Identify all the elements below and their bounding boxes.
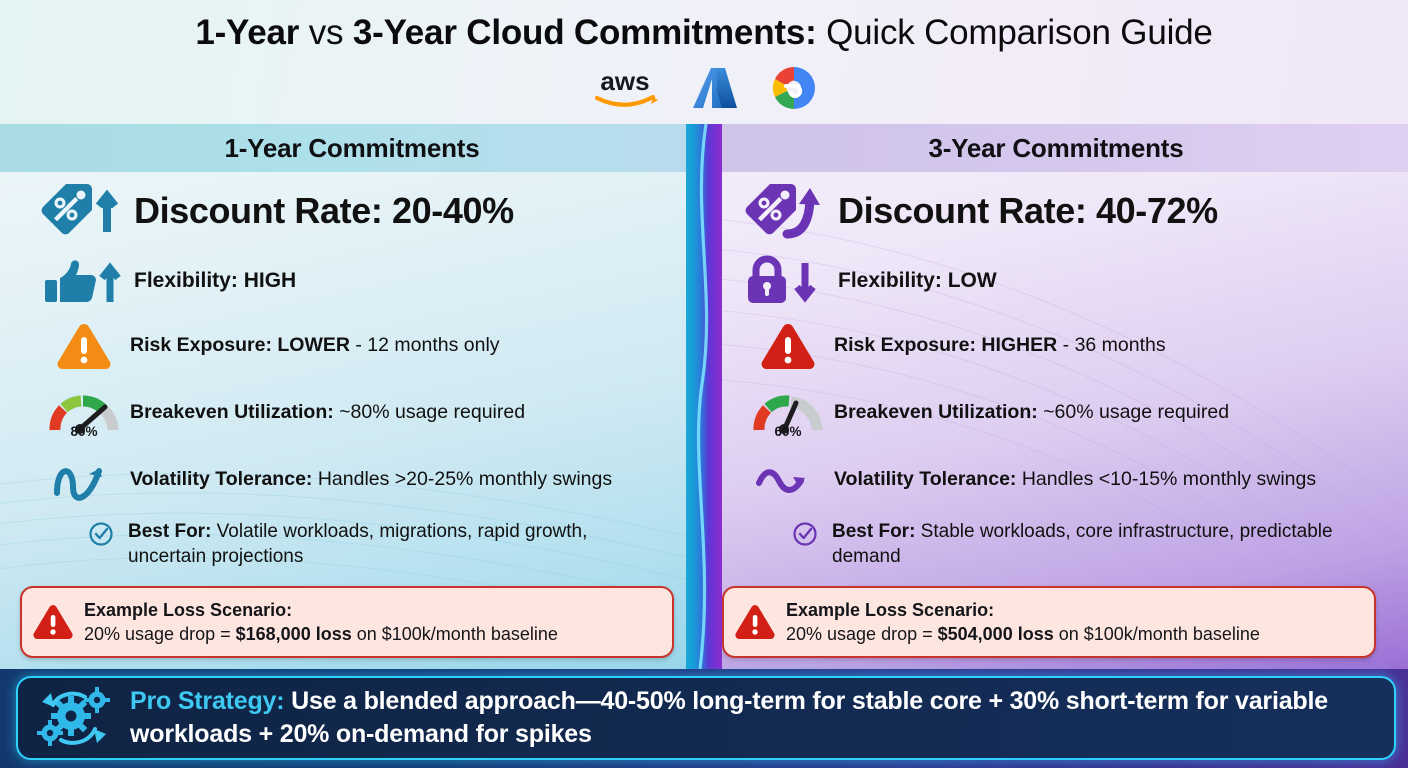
lock-down-icon — [740, 255, 832, 307]
title-part-3: Quick Comparison Guide — [817, 13, 1213, 52]
title-bar: 1-Year vs 3-Year Cloud Commitments: Quic… — [0, 0, 1408, 124]
row-risk-exposure: Risk Exposure: HIGHER - 36 months — [704, 312, 1408, 379]
wave-flat-arrow-icon — [748, 457, 828, 503]
infographic-canvas: 1-Year vs 3-Year Cloud Commitments: Quic… — [0, 0, 1408, 768]
breakeven-label: Breakeven Utilization: — [834, 401, 1038, 423]
best-for-label: Best For: — [832, 521, 915, 542]
warning-triangle-red-icon — [22, 603, 84, 641]
svg-text:aws: aws — [600, 66, 649, 96]
flexibility-value: HIGH — [238, 269, 296, 292]
title-vs: vs — [299, 13, 353, 52]
row-flexibility: Flexibility: LOW — [704, 250, 1408, 312]
warning-triangle-red-icon — [724, 603, 786, 641]
aws-logo: aws — [589, 66, 661, 110]
breakeven-value: ~60% usage required — [1038, 401, 1229, 423]
column-one-year: 1-Year Commitments — [0, 124, 704, 669]
breakeven-label: Breakeven Utilization: — [130, 401, 334, 423]
breakeven-text: Breakeven Utilization: ~80% usage requir… — [130, 401, 525, 424]
loss-scenario-title: Example Loss Scenario: — [84, 599, 558, 622]
row-best-for: Best For: Stable workloads, core infrast… — [704, 513, 1408, 577]
loss-scenario-detail: 20% usage drop = $168,000 loss on $100k/… — [84, 622, 558, 646]
check-circle-icon — [78, 519, 124, 547]
gauge-icon: 80% — [44, 390, 124, 436]
row-best-for: Best For: Volatile workloads, migrations… — [0, 513, 704, 577]
best-for-text: Best For: Volatile workloads, migrations… — [128, 519, 648, 569]
thumbs-up-icon — [36, 256, 128, 306]
breakeven-text: Breakeven Utilization: ~60% usage requir… — [834, 401, 1229, 424]
row-breakeven-utilization: 60% Breakeven Utilization: ~60% usage re… — [704, 379, 1408, 446]
risk-exposure-label: Risk Exposure: HIGHER — [834, 334, 1057, 356]
warning-triangle-orange-icon — [44, 320, 124, 372]
pro-strategy-bar: Pro Strategy: Use a blended approach—40-… — [0, 669, 1408, 768]
discount-rate-text: Discount Rate: 20-40% — [134, 190, 514, 232]
risk-exposure-text: Risk Exposure: HIGHER - 36 months — [834, 334, 1166, 357]
volatility-label: Volatility Tolerance: — [834, 468, 1016, 490]
volatility-text: Volatility Tolerance: Handles <10-15% mo… — [834, 468, 1316, 491]
loss-post: on $100k/month baseline — [1054, 624, 1260, 644]
title-part-1: 1-Year — [195, 13, 299, 52]
cloud-provider-logos: aws — [0, 62, 1408, 114]
row-discount-rate: Discount Rate: 20-40% — [0, 172, 704, 250]
volatility-text: Volatility Tolerance: Handles >20-25% mo… — [130, 468, 612, 491]
row-discount-rate: Discount Rate: 40-72% — [704, 172, 1408, 250]
row-volatility-tolerance: Volatility Tolerance: Handles <10-15% mo… — [704, 446, 1408, 513]
pro-strategy-card: Pro Strategy: Use a blended approach—40-… — [16, 676, 1396, 760]
loss-amount: $504,000 loss — [938, 624, 1054, 644]
loss-post: on $100k/month baseline — [352, 624, 558, 644]
loss-scenario-detail: 20% usage drop = $504,000 loss on $100k/… — [786, 622, 1260, 646]
divider-wave-line — [686, 124, 722, 669]
row-risk-exposure: Risk Exposure: LOWER - 12 months only — [0, 312, 704, 379]
column-heading-three-year: 3-Year Commitments — [704, 124, 1408, 172]
row-breakeven-utilization: 80% Breakeven Utilization: ~80% usage re… — [0, 379, 704, 446]
discount-rate-text: Discount Rate: 40-72% — [838, 190, 1218, 232]
gauge-icon: 60% — [748, 390, 828, 436]
volatility-label: Volatility Tolerance: — [130, 468, 312, 490]
flexibility-label: Flexibility: — [838, 269, 942, 292]
wave-up-arrow-icon — [44, 457, 124, 503]
pro-strategy-label: Pro Strategy: — [130, 687, 284, 715]
flexibility-text: Flexibility: HIGH — [134, 269, 296, 293]
loss-scenario-body: Example Loss Scenario: 20% usage drop = … — [84, 599, 558, 646]
discount-tag-curve-up-icon — [740, 180, 832, 242]
flexibility-label: Flexibility: — [134, 269, 238, 292]
column-divider — [686, 124, 722, 669]
best-for-text: Best For: Stable workloads, core infrast… — [832, 519, 1352, 569]
gauge-label: 60% — [748, 424, 828, 439]
best-for-label: Best For: — [128, 521, 211, 542]
gauge-label: 80% — [44, 424, 124, 439]
loss-scenario-box: Example Loss Scenario: 20% usage drop = … — [722, 586, 1376, 658]
google-cloud-logo — [769, 65, 819, 111]
azure-logo — [691, 65, 739, 111]
rows-one-year: Discount Rate: 20-40% Flexibility: HIGH — [0, 172, 704, 577]
column-three-year: 3-Year Commitments — [704, 124, 1408, 669]
breakeven-value: ~80% usage required — [334, 401, 525, 423]
risk-exposure-value: - 36 months — [1057, 334, 1165, 356]
page-title: 1-Year vs 3-Year Cloud Commitments: Quic… — [0, 12, 1408, 54]
rows-three-year: Discount Rate: 40-72% Flexibility: LOW — [704, 172, 1408, 577]
volatility-value: Handles <10-15% monthly swings — [1016, 468, 1316, 490]
column-heading-one-year: 1-Year Commitments — [0, 124, 704, 172]
warning-triangle-red-icon — [748, 320, 828, 372]
pro-strategy-text: Pro Strategy: Use a blended approach—40-… — [130, 685, 1394, 751]
pro-strategy-body: Use a blended approach—40-50% long-term … — [130, 687, 1328, 748]
check-circle-icon — [782, 519, 828, 547]
discount-tag-up-icon — [36, 180, 128, 242]
risk-exposure-text: Risk Exposure: LOWER - 12 months only — [130, 334, 500, 357]
loss-pre: 20% usage drop = — [786, 624, 938, 644]
gears-cycle-icon — [18, 683, 130, 753]
loss-pre: 20% usage drop = — [84, 624, 236, 644]
loss-scenario-title: Example Loss Scenario: — [786, 599, 1260, 622]
row-volatility-tolerance: Volatility Tolerance: Handles >20-25% mo… — [0, 446, 704, 513]
row-flexibility: Flexibility: HIGH — [0, 250, 704, 312]
risk-exposure-label: Risk Exposure: LOWER — [130, 334, 350, 356]
flexibility-text: Flexibility: LOW — [838, 269, 997, 293]
title-part-2: 3-Year Cloud Commitments: — [353, 13, 817, 52]
risk-exposure-value: - 12 months only — [350, 334, 500, 356]
flexibility-value: LOW — [942, 269, 997, 292]
loss-scenario-box: Example Loss Scenario: 20% usage drop = … — [20, 586, 674, 658]
loss-scenario-body: Example Loss Scenario: 20% usage drop = … — [786, 599, 1260, 646]
loss-amount: $168,000 loss — [236, 624, 352, 644]
volatility-value: Handles >20-25% monthly swings — [312, 468, 612, 490]
